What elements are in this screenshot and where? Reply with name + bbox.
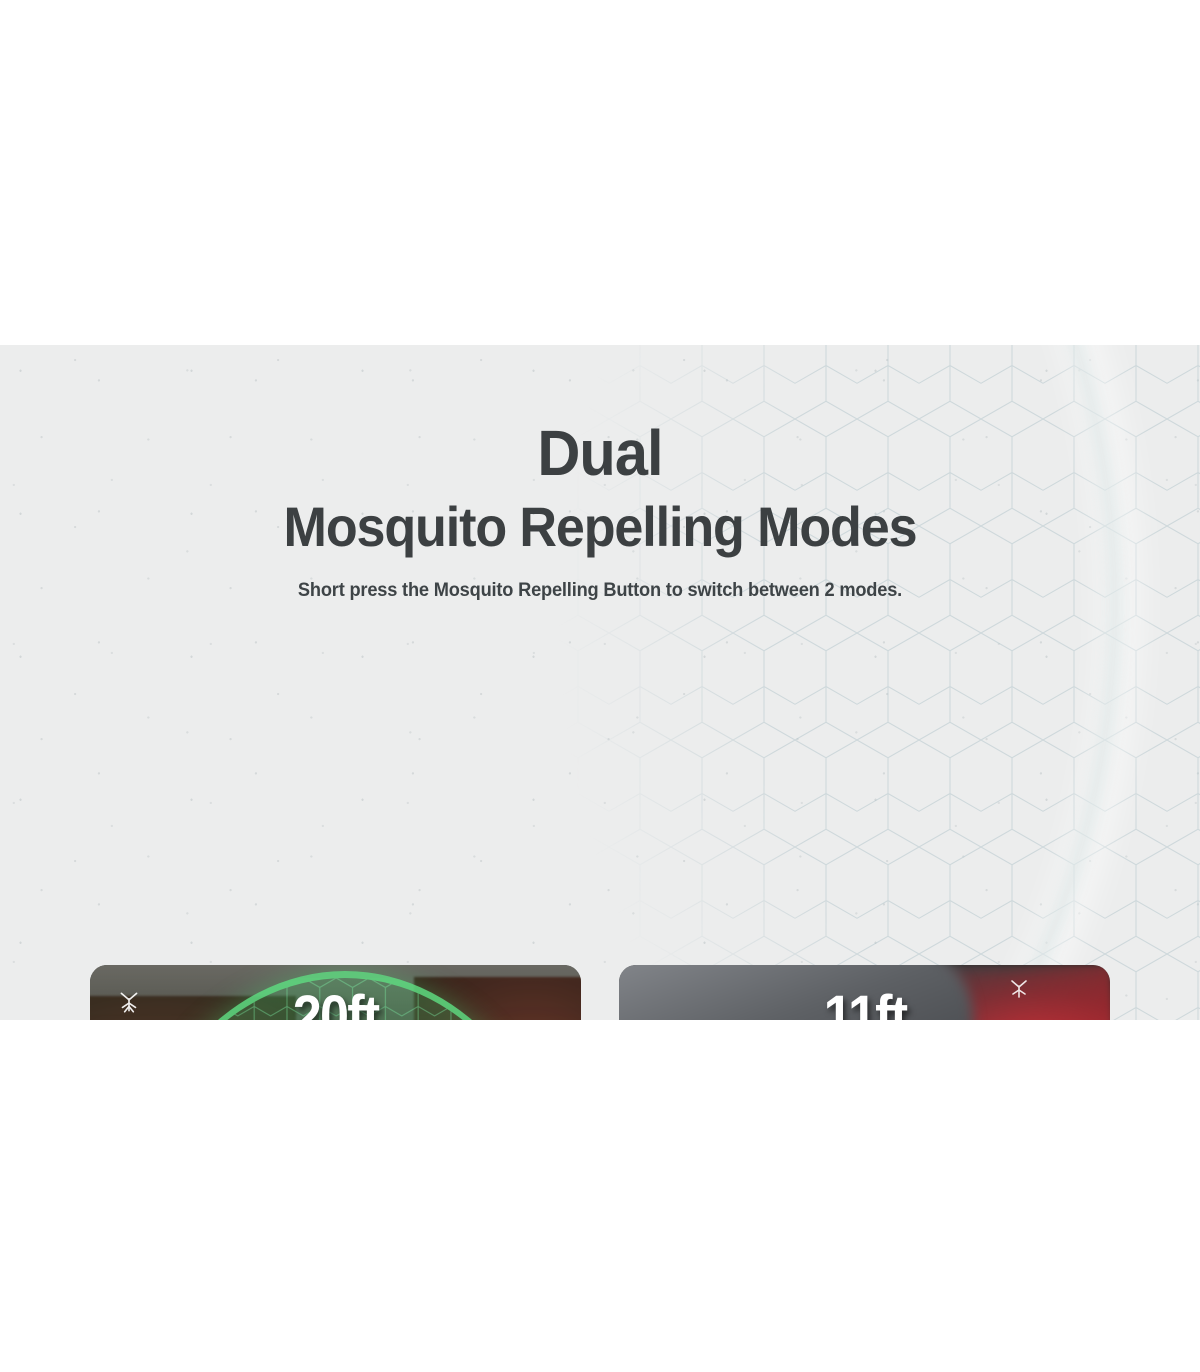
indoor-scene-image: The Unsplash Book The Unsplash Book [619,965,1110,1020]
promo-band: Dual Mosquito Repelling Modes Short pres… [0,345,1200,1020]
mode-cards-row: 20ft Protection Zone Outdoor Mode Dual r… [90,965,1110,1020]
card-indoor-mode[interactable]: The Unsplash Book The Unsplash Book [619,965,1110,1020]
card-outdoor-mode[interactable]: 20ft Protection Zone Outdoor Mode Dual r… [90,965,581,1020]
page-title-line2: Mosquito Repelling Modes [42,497,1158,556]
page-description: Short press the Mosquito Repelling Butto… [24,580,1176,602]
protection-dome-outdoor [119,971,571,1020]
page-title-line1: Dual [42,421,1158,485]
heading-block: Dual Mosquito Repelling Modes Short pres… [0,345,1200,602]
